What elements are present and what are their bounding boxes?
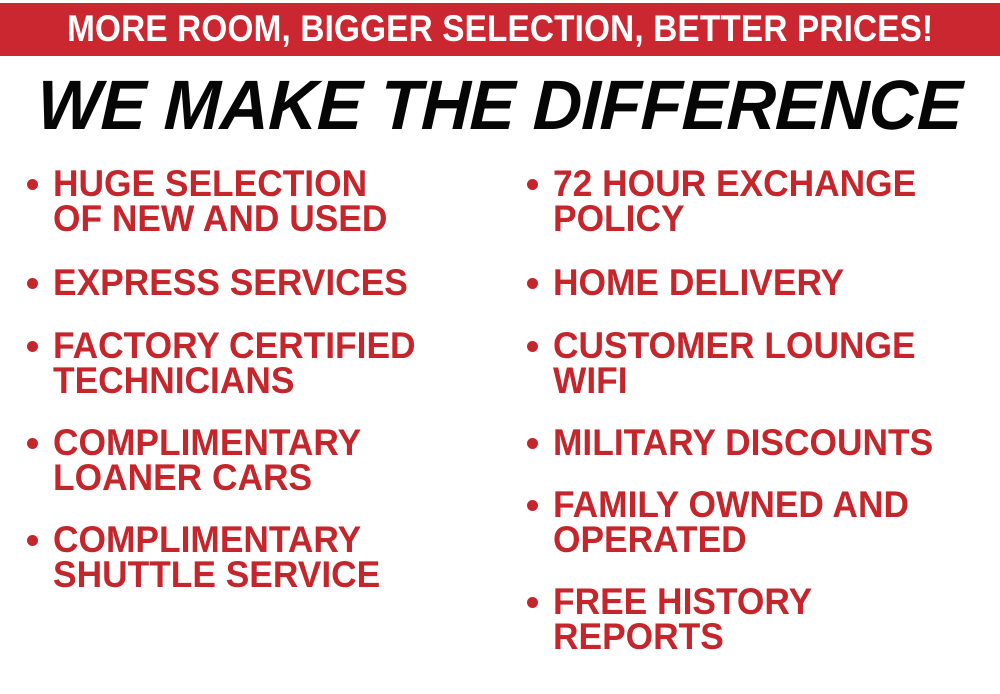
- benefit-bullet-line: EXPRESS SERVICES: [53, 265, 480, 300]
- benefit-bullet-text: COMPLIMENTARYLOANER CARS: [53, 425, 500, 495]
- benefit-bullet-text: MILITARY DISCOUNTS: [553, 425, 1000, 460]
- benefit-bullet-text: FREE HISTORYREPORTS: [553, 584, 1000, 654]
- benefit-bullet-item: COMPLIMENTARYSHUTTLE SERVICE: [22, 522, 500, 592]
- benefit-bullet-line: REPORTS: [553, 619, 980, 654]
- bullet-dot-icon: [527, 341, 538, 352]
- benefit-bullet-line: TECHNICIANS: [53, 363, 480, 398]
- benefit-bullet-item: FAMILY OWNED ANDOPERATED: [522, 487, 1000, 557]
- bullet-dot-icon: [527, 278, 538, 289]
- bullet-dot-icon: [527, 179, 538, 190]
- benefit-bullet-line: 72 HOUR EXCHANGE: [553, 166, 980, 201]
- benefit-bullet-item: HUGE SELECTIONOF NEW AND USED: [22, 166, 500, 236]
- benefit-bullet-line: HUGE SELECTION: [53, 166, 480, 201]
- main-headline-text: WE MAKE THE DIFFERENCE: [36, 70, 963, 140]
- benefits-column-left: HUGE SELECTIONOF NEW AND USEDEXPRESS SER…: [22, 158, 500, 592]
- bullet-dot-icon: [27, 179, 38, 190]
- benefit-bullet-line: POLICY: [553, 201, 980, 236]
- bullet-dot-icon: [527, 500, 538, 511]
- top-banner: MORE ROOM, BIGGER SELECTION, BETTER PRIC…: [0, 3, 1000, 56]
- benefit-bullet-line: OPERATED: [553, 522, 980, 557]
- main-headline: WE MAKE THE DIFFERENCE: [0, 70, 1000, 140]
- benefit-bullet-text: COMPLIMENTARYSHUTTLE SERVICE: [53, 522, 500, 592]
- benefit-bullet-item: MILITARY DISCOUNTS: [522, 425, 1000, 460]
- benefit-bullet-text: HUGE SELECTIONOF NEW AND USED: [53, 166, 500, 236]
- bullet-dot-icon: [27, 535, 38, 546]
- benefit-bullet-line: OF NEW AND USED: [53, 201, 480, 236]
- benefit-bullet-text: 72 HOUR EXCHANGEPOLICY: [553, 166, 1000, 236]
- benefit-bullet-item: COMPLIMENTARYLOANER CARS: [22, 425, 500, 495]
- benefit-bullet-line: FACTORY CERTIFIED: [53, 328, 480, 363]
- bullet-dot-icon: [27, 438, 38, 449]
- bullet-dot-icon: [527, 438, 538, 449]
- dealership-benefits-poster: MORE ROOM, BIGGER SELECTION, BETTER PRIC…: [0, 0, 1000, 694]
- benefit-bullet-line: FREE HISTORY: [553, 584, 980, 619]
- benefit-bullet-item: HOME DELIVERY: [522, 265, 1000, 300]
- benefit-bullet-item: CUSTOMER LOUNGEWIFI: [522, 328, 1000, 398]
- bullet-dot-icon: [527, 597, 538, 608]
- benefit-bullet-line: MILITARY DISCOUNTS: [553, 425, 980, 460]
- benefit-bullet-line: COMPLIMENTARY: [53, 425, 480, 460]
- benefit-bullet-line: CUSTOMER LOUNGE: [553, 328, 980, 363]
- benefit-bullet-text: EXPRESS SERVICES: [53, 265, 500, 300]
- benefit-bullet-item: FACTORY CERTIFIEDTECHNICIANS: [22, 328, 500, 398]
- benefit-bullet-item: FREE HISTORYREPORTS: [522, 584, 1000, 654]
- benefit-bullet-text: CUSTOMER LOUNGEWIFI: [553, 328, 1000, 398]
- benefit-bullet-line: COMPLIMENTARY: [53, 522, 480, 557]
- benefit-bullet-line: FAMILY OWNED AND: [553, 487, 980, 522]
- bullet-dot-icon: [27, 341, 38, 352]
- benefit-bullet-item: 72 HOUR EXCHANGEPOLICY: [522, 166, 1000, 236]
- benefit-bullet-text: HOME DELIVERY: [553, 265, 1000, 300]
- benefits-columns: HUGE SELECTIONOF NEW AND USEDEXPRESS SER…: [0, 158, 1000, 694]
- benefit-bullet-text: FAMILY OWNED ANDOPERATED: [553, 487, 1000, 557]
- bullet-dot-icon: [27, 278, 38, 289]
- benefit-bullet-text: FACTORY CERTIFIEDTECHNICIANS: [53, 328, 500, 398]
- benefit-bullet-line: LOANER CARS: [53, 460, 480, 495]
- banner-headline-text: MORE ROOM, BIGGER SELECTION, BETTER PRIC…: [67, 10, 933, 49]
- benefit-bullet-line: SHUTTLE SERVICE: [53, 557, 480, 592]
- benefits-column-right: 72 HOUR EXCHANGEPOLICYHOME DELIVERYCUSTO…: [522, 158, 1000, 654]
- benefit-bullet-line: WIFI: [553, 363, 980, 398]
- benefit-bullet-item: EXPRESS SERVICES: [22, 265, 500, 300]
- benefit-bullet-line: HOME DELIVERY: [553, 265, 980, 300]
